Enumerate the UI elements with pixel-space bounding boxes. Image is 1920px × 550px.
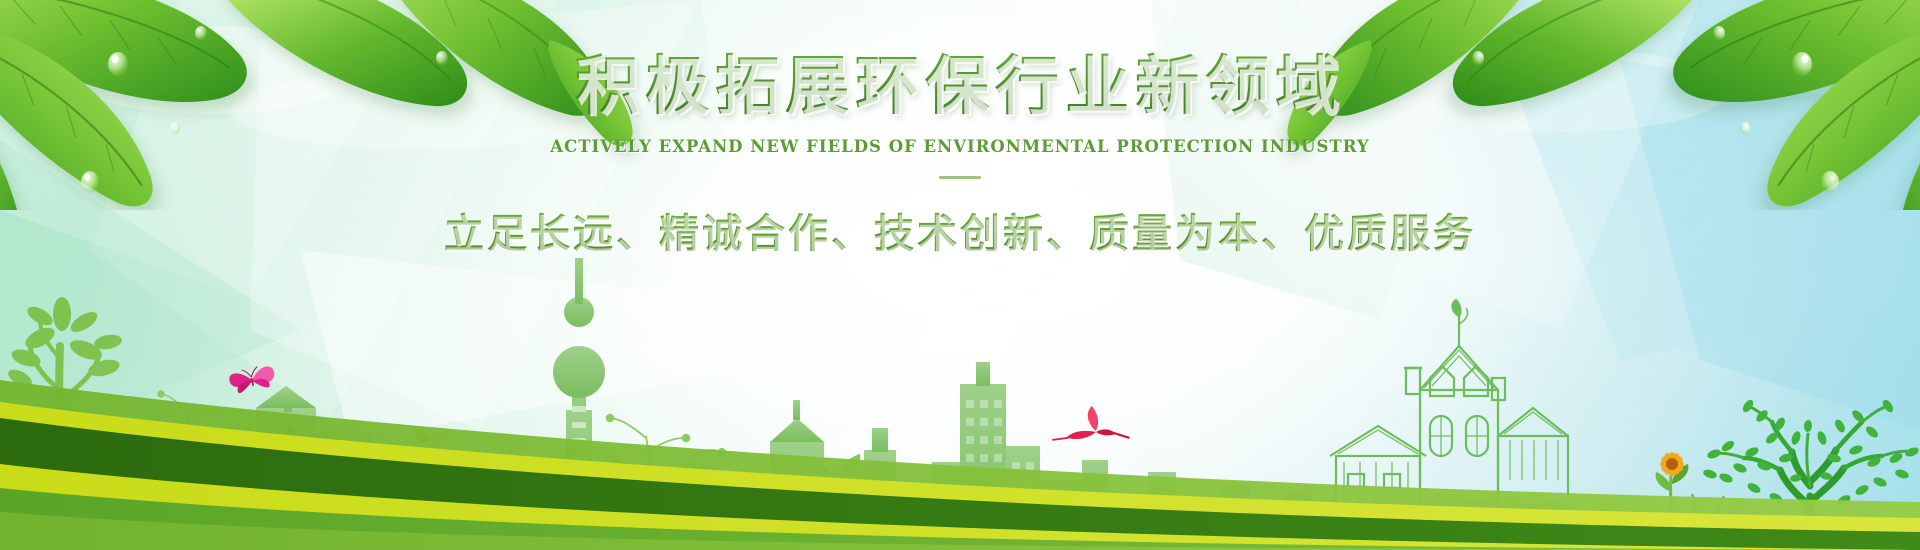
butterfly-pink xyxy=(228,363,277,395)
leaves-top-right xyxy=(1230,0,1920,215)
eco-banner: 积极拓展环保行业新领域 ACTIVELY EXPAND NEW FIELDS O… xyxy=(0,0,1920,550)
hummingbird xyxy=(1046,398,1129,461)
scenery-layer xyxy=(0,250,1920,550)
victorian-house xyxy=(1330,300,1568,510)
leaves-top-left xyxy=(0,0,690,215)
